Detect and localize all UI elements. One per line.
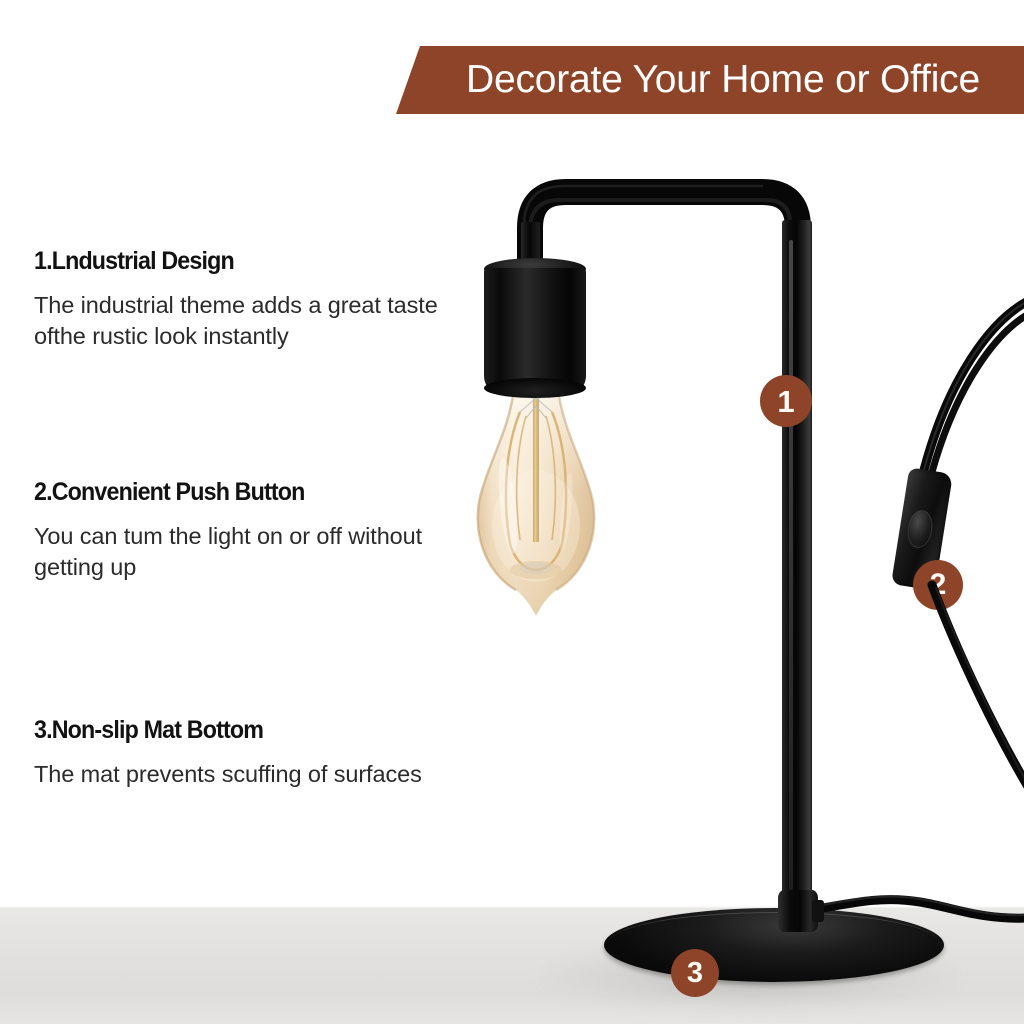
feature-block-3: 3.Non-slip Mat Bottom The mat prevents s…	[34, 716, 422, 790]
feature-3-title: 3.Non-slip Mat Bottom	[34, 716, 395, 745]
lamp-pole	[782, 220, 812, 910]
edison-bulb	[462, 386, 610, 618]
product-infographic: Decorate Your Home or Office 1.Lndustria…	[0, 0, 1024, 1024]
feature-block-2: 2.Convenient Push Button You can tum the…	[34, 478, 474, 583]
lamp-socket	[484, 268, 586, 390]
feature-1-body: The industrial theme adds a great taste …	[34, 290, 474, 352]
lamp-pole-highlight	[789, 240, 793, 890]
feature-block-1: 1.Lndustrial Design The industrial theme…	[34, 247, 474, 352]
header-banner-title: Decorate Your Home or Office	[466, 46, 1018, 114]
callout-badge-3: 3	[671, 949, 719, 997]
lamp-base-rim	[608, 912, 940, 975]
base-cord-outlet	[812, 900, 824, 922]
feature-2-title: 2.Convenient Push Button	[34, 478, 443, 507]
feature-3-body: The mat prevents scuffing of surfaces	[34, 759, 422, 790]
feature-1-title: 1.Lndustrial Design	[34, 247, 443, 276]
socket-bottom-rim	[484, 378, 586, 398]
callout-badge-2: 2	[913, 560, 963, 610]
callout-badge-1: 1	[760, 375, 812, 427]
feature-2-body: You can tum the light on or off without …	[34, 521, 474, 583]
